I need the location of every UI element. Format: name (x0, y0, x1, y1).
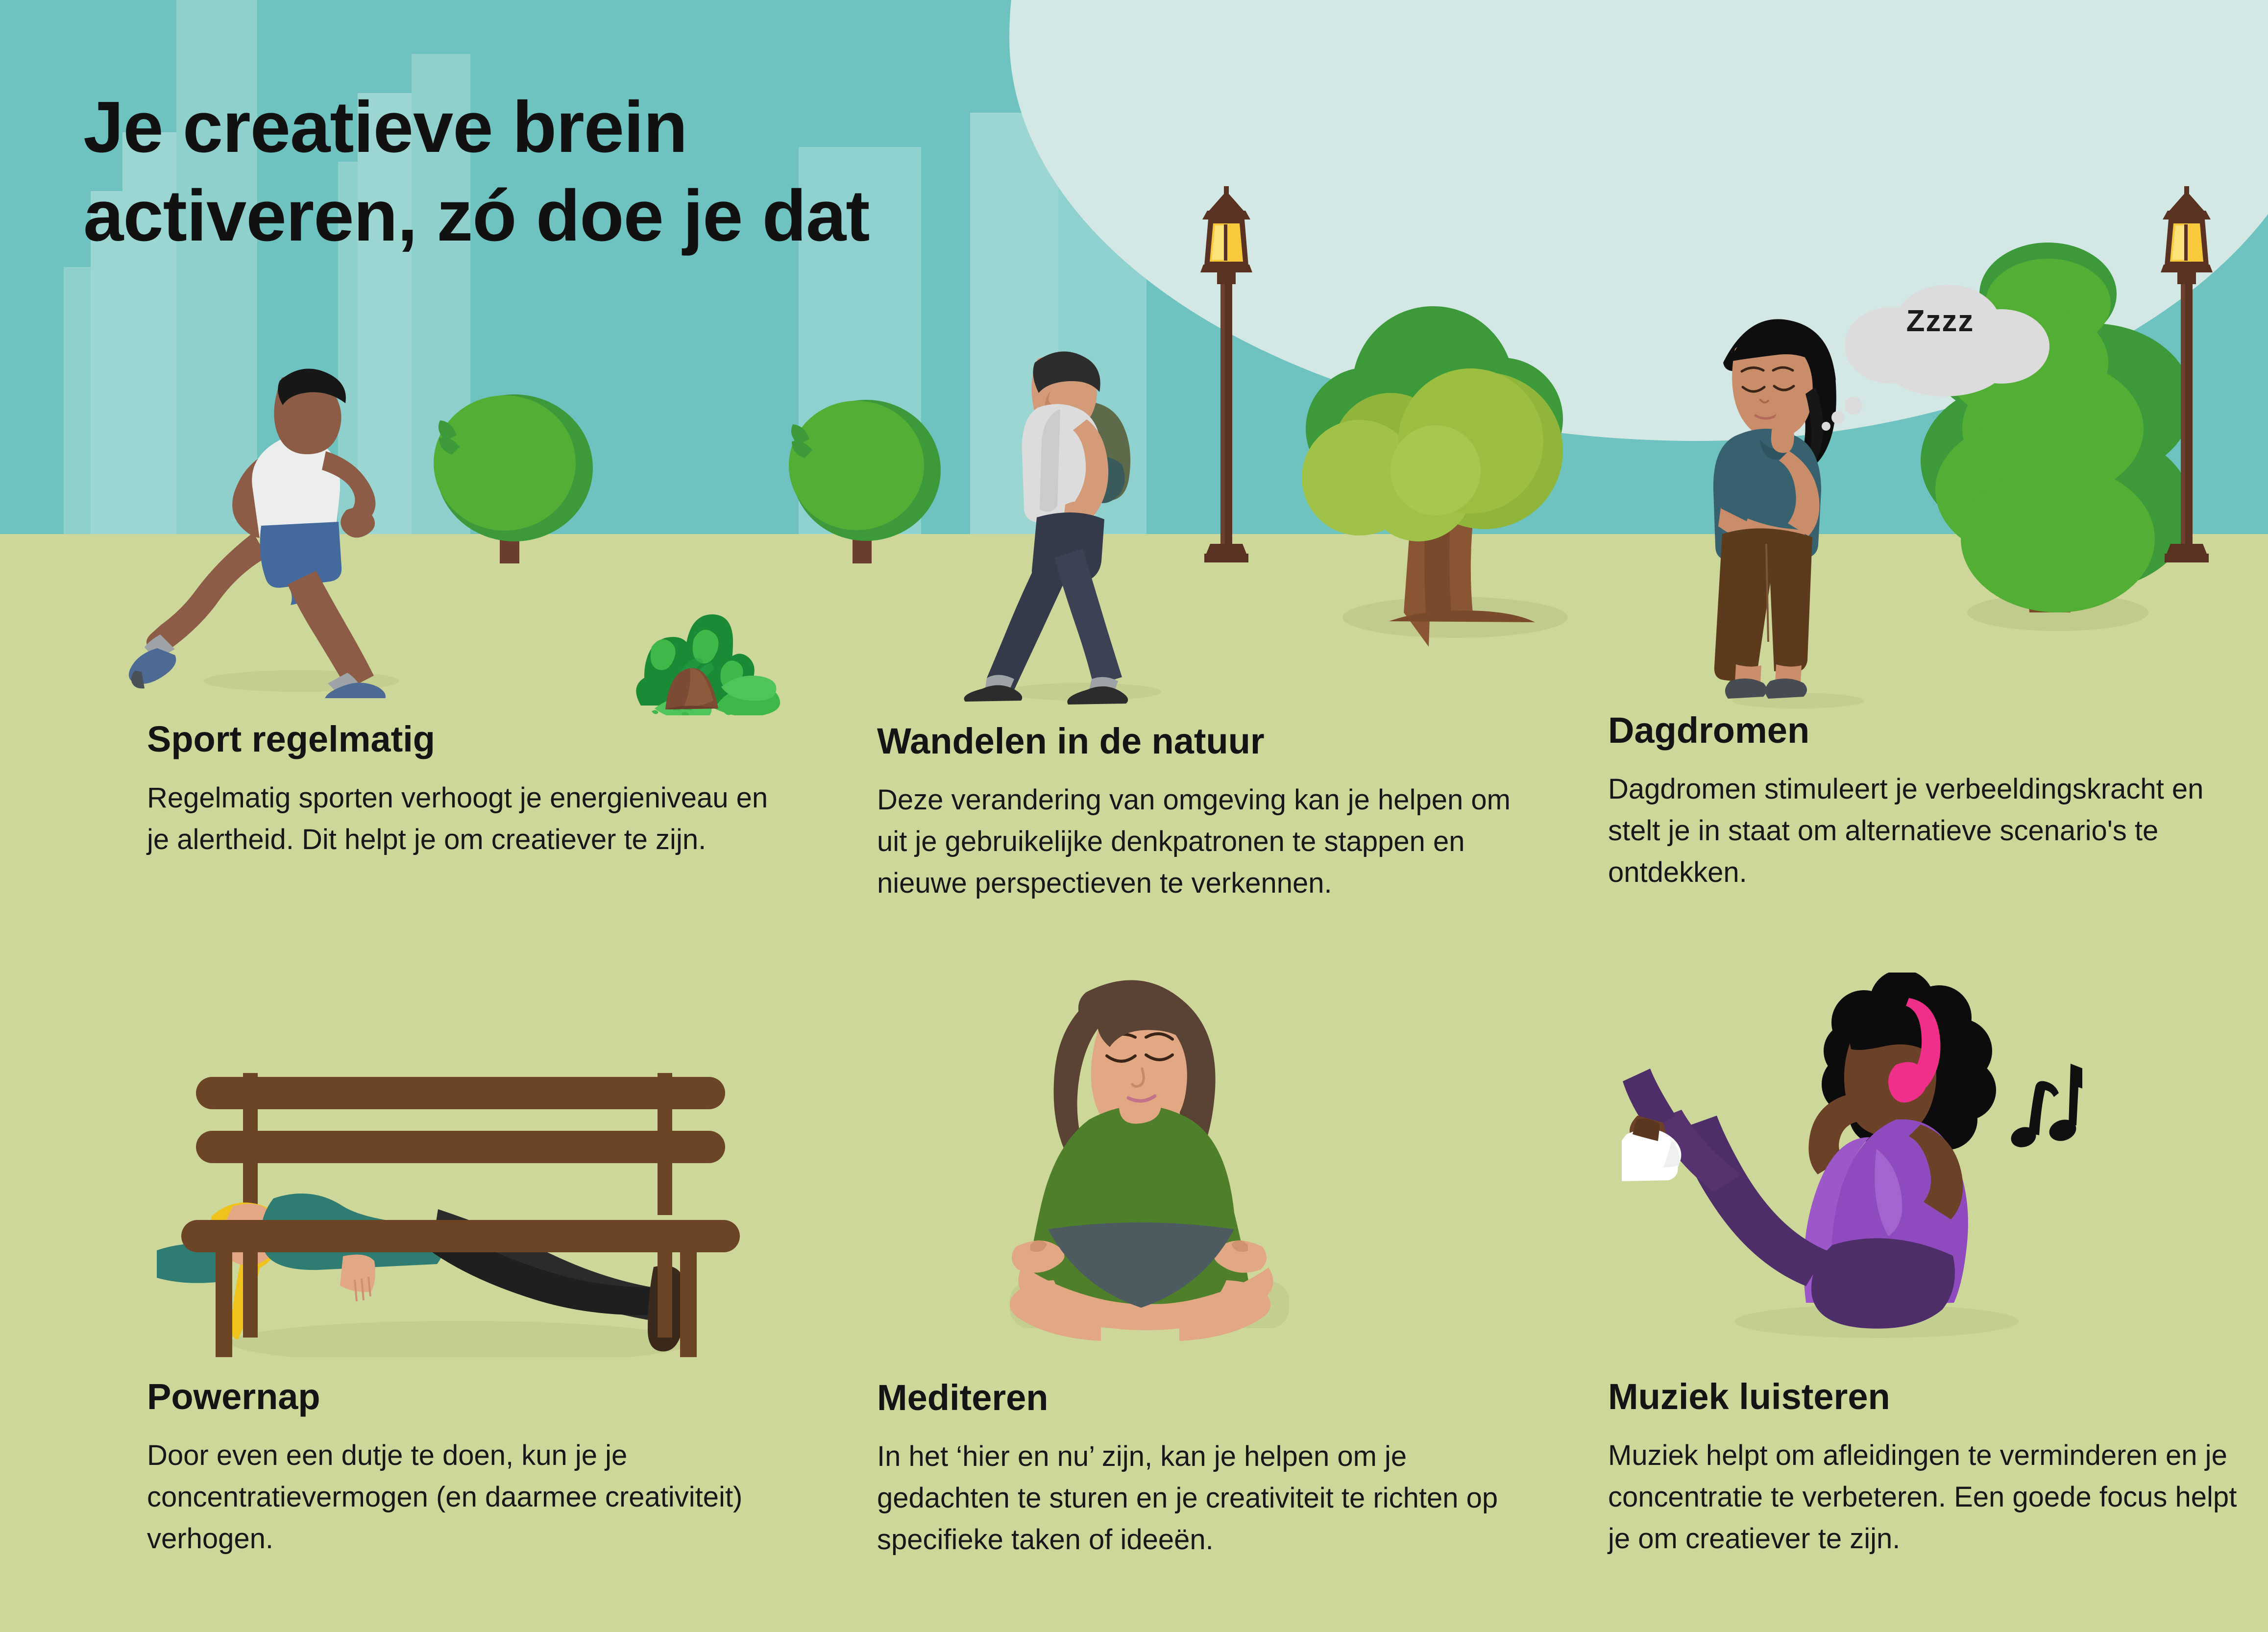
card-heading: Sport regelmatig (147, 719, 789, 759)
sky-background (0, 0, 2268, 534)
card-powernap: Powernap Door even een dutje te doen, ku… (147, 1377, 789, 1559)
page-title: Je creatieve brein activeren, zó doe je … (83, 83, 1210, 260)
card-body: Dagdromen stimuleert je verbeeldingskrac… (1608, 769, 2250, 893)
card-heading: Mediteren (877, 1378, 1519, 1417)
card-dagdromen: Dagdromen Dagdromen stimuleert je verbee… (1608, 710, 2250, 893)
card-body: Regelmatig sporten verhoogt je energieni… (147, 778, 789, 860)
card-heading: Muziek luisteren (1608, 1377, 2250, 1416)
card-body: In het ‘hier en nu’ zijn, kan je helpen … (877, 1436, 1519, 1560)
card-heading: Powernap (147, 1377, 789, 1416)
card-body: Door even een dutje te doen, kun je je c… (147, 1435, 789, 1559)
card-heading: Dagdromen (1608, 710, 2250, 750)
card-muziek-luisteren: Muziek luisteren Muziek helpt om afleidi… (1608, 1377, 2250, 1559)
building-4 (176, 0, 257, 534)
card-wandelen-in-de-natuur: Wandelen in de natuur Deze verandering v… (877, 721, 1519, 904)
card-mediteren: Mediteren In het ‘hier en nu’ zijn, kan … (877, 1378, 1519, 1560)
card-body: Deze verandering van omgeving kan je hel… (877, 779, 1519, 904)
card-sport-regelmatig: Sport regelmatig Regelmatig sporten verh… (147, 719, 789, 861)
card-heading: Wandelen in de natuur (877, 721, 1519, 761)
card-body: Muziek helpt om afleidingen te verminder… (1608, 1435, 2250, 1559)
infographic-poster: Zzzz (0, 0, 2268, 1632)
